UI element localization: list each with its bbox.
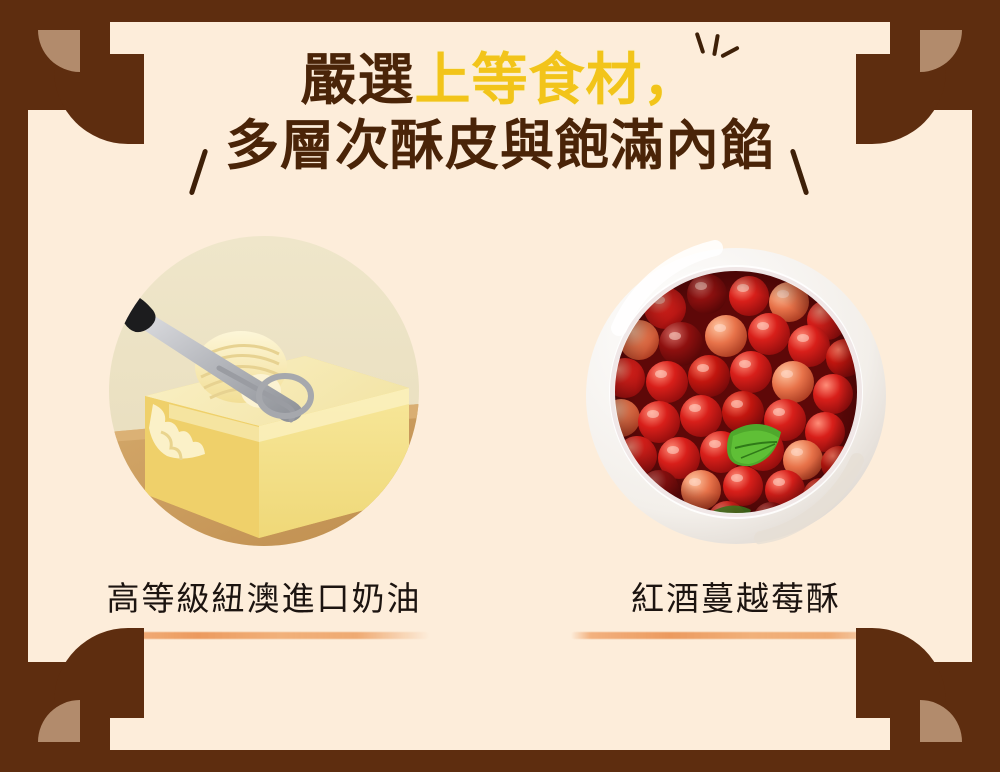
corner-ornament-top-left <box>0 0 110 110</box>
product-card-row: 高等級紐澳進口奶油 <box>28 236 972 639</box>
headline-line-2: 多層次酥皮與飽滿內餡 <box>0 118 1000 174</box>
sparkle-dash <box>720 46 740 59</box>
headline-block: 嚴選上等食材， 多層次酥皮與飽滿內餡 <box>0 52 1000 174</box>
product-card: 紅酒蔓越莓酥 <box>571 236 901 639</box>
corner-accent-dot <box>920 700 962 742</box>
cranberry-photo <box>581 236 891 546</box>
sparkle-icon <box>690 28 750 74</box>
sparkle-dash <box>712 34 720 56</box>
product-caption: 紅酒蔓越莓酥 <box>631 572 841 620</box>
corner-accent-dot <box>920 30 962 72</box>
product-card: 高等級紐澳進口奶油 <box>99 236 429 639</box>
caption-underline-brush <box>99 632 429 639</box>
headline-highlight-text: 上等食材 <box>415 50 643 112</box>
headline-line-1: 嚴選上等食材， <box>0 52 1000 110</box>
corner-accent-dot <box>38 700 80 742</box>
caption-underline-brush <box>571 632 901 639</box>
butter-photo <box>109 236 419 546</box>
product-caption: 高等級紐澳進口奶油 <box>107 572 422 620</box>
headline-plain-text: 嚴選 <box>301 50 415 112</box>
sparkle-dash <box>695 32 706 54</box>
corner-ornament-top-right <box>890 0 1000 110</box>
corner-accent-dot <box>38 30 80 72</box>
corner-ornament-bottom-left <box>0 662 110 772</box>
poster-root: 嚴選上等食材， 多層次酥皮與飽滿內餡 <box>0 0 1000 772</box>
corner-ornament-bottom-right <box>890 662 1000 772</box>
